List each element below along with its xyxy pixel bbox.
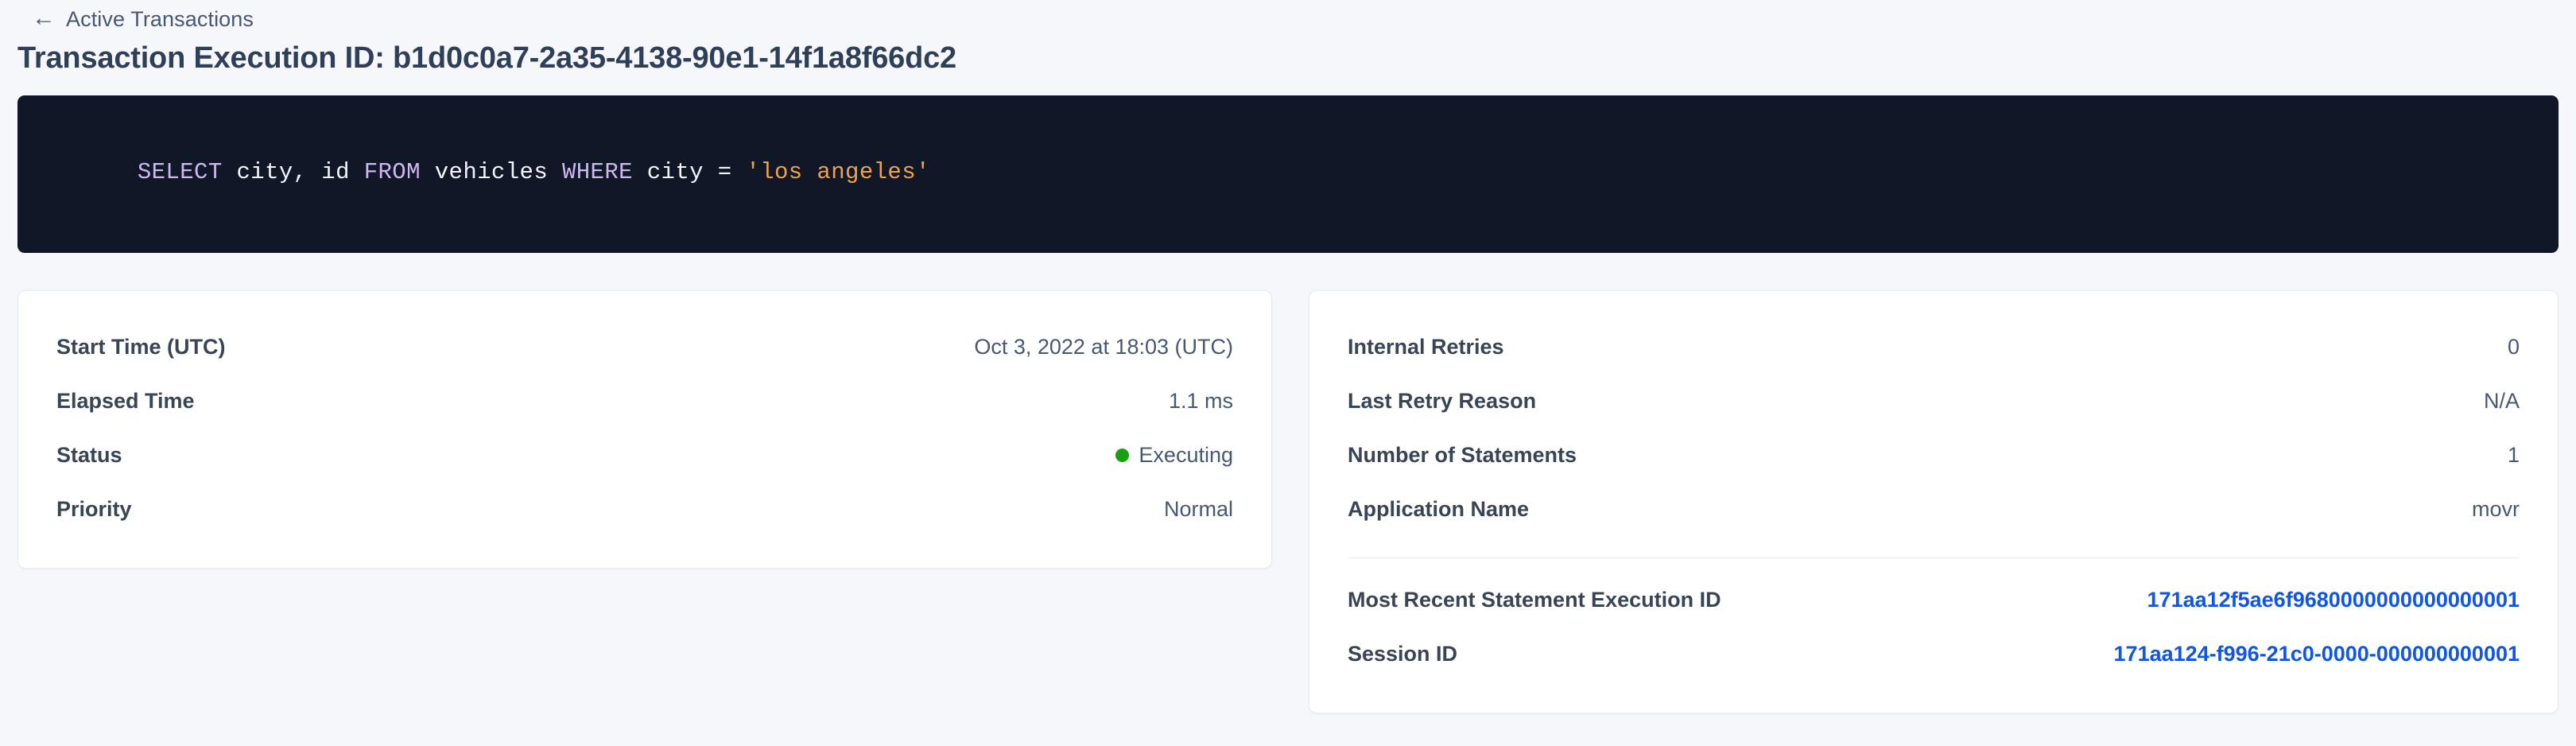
internal-retries-label: Internal Retries	[1348, 335, 1504, 359]
table-row: Internal Retries 0	[1348, 320, 2520, 374]
table-row: Application Name movr	[1348, 482, 2520, 536]
most-recent-statement-execution-id-link[interactable]: 171aa12f5ae6f9680000000000000001	[2147, 588, 2520, 612]
sql-token-keyword-select: SELECT	[138, 159, 223, 185]
application-name-label: Application Name	[1348, 497, 1529, 522]
sql-token-keyword-from: FROM	[364, 159, 421, 185]
last-retry-reason-value: N/A	[2484, 389, 2520, 414]
table-row: Elapsed Time 1.1 ms	[56, 374, 1233, 428]
start-time-value: Oct 3, 2022 at 18:03 (UTC)	[974, 335, 1233, 359]
status-dot-icon	[1115, 449, 1129, 462]
elapsed-time-label: Elapsed Time	[56, 389, 195, 414]
table-row: Status Executing	[56, 428, 1233, 482]
status-badge: Executing	[1115, 443, 1233, 468]
breadcrumb-label[interactable]: Active Transactions	[66, 7, 254, 32]
sql-token-keyword-where: WHERE	[562, 159, 633, 185]
sql-statement-block: SELECT city, id FROM vehicles WHERE city…	[17, 95, 2559, 253]
transaction-detail-page: ← Active Transactions Transaction Execut…	[0, 0, 2576, 746]
status-value-text: Executing	[1139, 443, 1233, 468]
sql-token-table: vehicles	[421, 159, 562, 185]
internal-retries-value: 0	[2508, 335, 2520, 359]
table-row: Start Time (UTC) Oct 3, 2022 at 18:03 (U…	[56, 320, 1233, 374]
sql-statement-line: SELECT city, id FROM vehicles WHERE city…	[52, 126, 2524, 219]
start-time-label: Start Time (UTC)	[56, 335, 226, 359]
elapsed-time-value: 1.1 ms	[1169, 389, 1233, 414]
sql-token-string-literal: 'los angeles'	[746, 159, 929, 185]
status-label: Status	[56, 443, 122, 468]
arrow-left-icon[interactable]: ←	[32, 6, 56, 30]
table-row: Session ID 171aa124-f996-21c0-0000-00000…	[1348, 627, 2520, 681]
page-title: Transaction Execution ID: b1d0c0a7-2a35-…	[17, 32, 2559, 76]
card-divider	[1348, 558, 2520, 558]
number-of-statements-label: Number of Statements	[1348, 443, 1577, 468]
session-id-link[interactable]: 171aa124-f996-21c0-0000-000000000001	[2114, 642, 2520, 666]
table-row: Most Recent Statement Execution ID 171aa…	[1348, 573, 2520, 627]
number-of-statements-value: 1	[2508, 443, 2520, 468]
table-row: Number of Statements 1	[1348, 428, 2520, 482]
session-id-label: Session ID	[1348, 642, 1457, 666]
table-row: Priority Normal	[56, 482, 1233, 536]
transaction-summary-card: Start Time (UTC) Oct 3, 2022 at 18:03 (U…	[17, 290, 1272, 569]
transaction-retries-card: Internal Retries 0 Last Retry Reason N/A…	[1309, 290, 2559, 713]
breadcrumb[interactable]: ← Active Transactions	[17, 0, 2559, 32]
priority-label: Priority	[56, 497, 132, 522]
sql-token-predicate: city =	[633, 159, 746, 185]
last-retry-reason-label: Last Retry Reason	[1348, 389, 1536, 414]
application-name-value: movr	[2472, 497, 2520, 522]
sql-token-columns: city, id	[223, 159, 364, 185]
detail-cards-row: Start Time (UTC) Oct 3, 2022 at 18:03 (U…	[17, 290, 2559, 713]
most-recent-statement-execution-id-label: Most Recent Statement Execution ID	[1348, 588, 1721, 612]
priority-value: Normal	[1164, 497, 1233, 522]
table-row: Last Retry Reason N/A	[1348, 374, 2520, 428]
